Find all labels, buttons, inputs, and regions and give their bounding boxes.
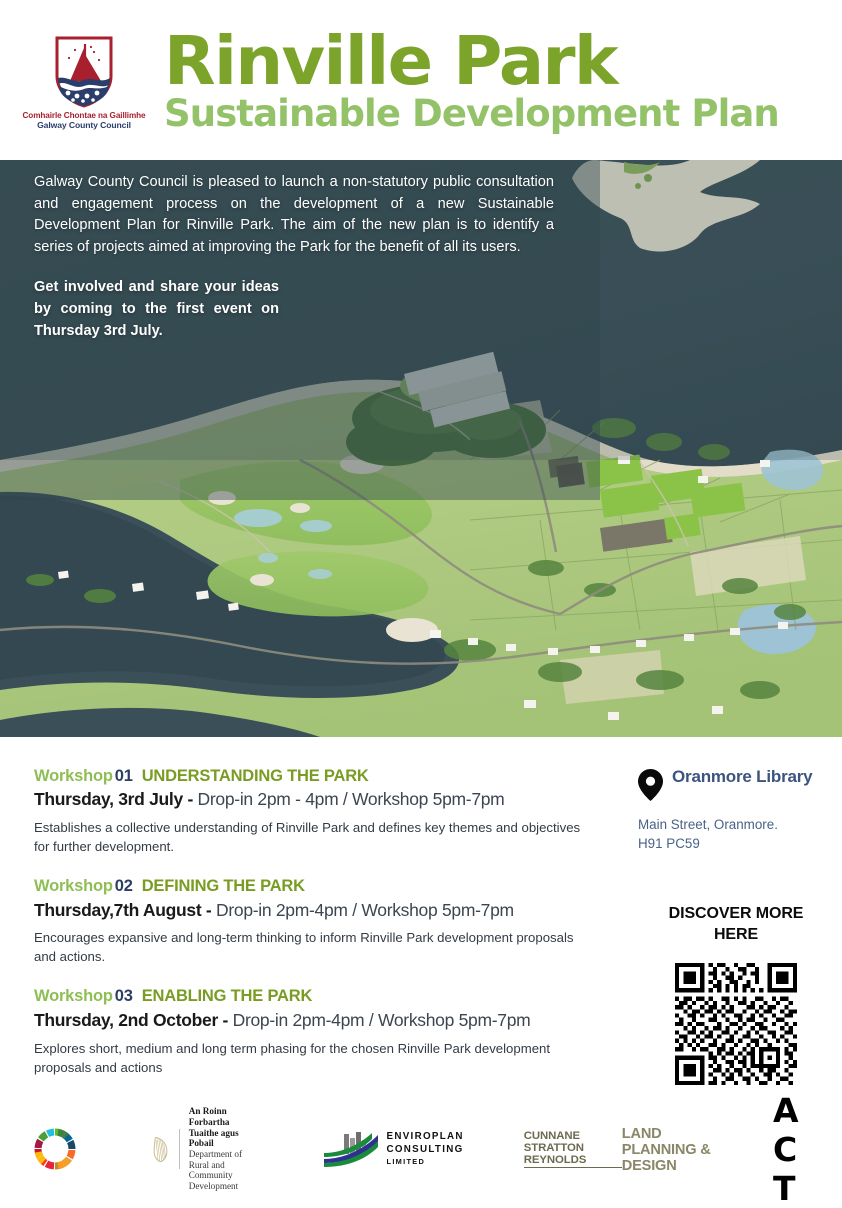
intro-paragraph: Galway County Council is pleased to laun… bbox=[34, 172, 554, 258]
venue-and-qr-column: Oranmore Library Main Street, Oranmore. … bbox=[620, 767, 842, 1098]
gov-irish-line1: An Roinn Forbartha bbox=[189, 1106, 250, 1127]
gov-irish-line2: Tuaithe agus Pobail bbox=[189, 1128, 250, 1149]
enviroplan-mark-icon bbox=[322, 1129, 380, 1169]
government-department-logo: An Roinn Forbartha Tuaithe agus Pobail D… bbox=[151, 1106, 250, 1191]
page-subtitle: Sustainable Development Plan bbox=[164, 95, 779, 133]
enviroplan-logo: ENVIROPLAN CONSULTING LIMITED bbox=[322, 1129, 464, 1169]
sdg-logo bbox=[34, 1128, 76, 1170]
workshop-label: Workshop bbox=[34, 987, 113, 1005]
workshop-heading: Workshop02DEFINING THE PARK bbox=[34, 877, 620, 896]
government-logo-text: An Roinn Forbartha Tuaithe agus Pobail D… bbox=[189, 1106, 250, 1191]
galway-county-council-logo: Comhairle Chontae na Gaillimhe Galway Co… bbox=[28, 34, 140, 131]
logo-divider bbox=[179, 1129, 180, 1169]
csr-line1: CUNNANE STRATTON REYNOLDS bbox=[524, 1130, 622, 1168]
venue-address-line1: Main Street, Oranmore. bbox=[638, 815, 842, 834]
poster-header: Comhairle Chontae na Gaillimhe Galway Co… bbox=[0, 0, 842, 160]
workshop-item: Workshop02DEFINING THE PARK Thursday,7th… bbox=[34, 877, 620, 966]
workshop-label: Workshop bbox=[34, 877, 113, 895]
venue-address-line2: H91 PC59 bbox=[638, 834, 842, 853]
workshops-list: Workshop01UNDERSTANDING THE PARK Thursda… bbox=[0, 767, 620, 1098]
qr-code-icon[interactable] bbox=[675, 963, 797, 1085]
enviroplan-line2: CONSULTING bbox=[387, 1144, 464, 1157]
workshop-number: 01 bbox=[115, 767, 133, 785]
workshop-date-line: Thursday, 3rd July - Drop-in 2pm - 4pm /… bbox=[34, 788, 620, 811]
csr-line2: LAND PLANNING & DESIGN bbox=[622, 1126, 723, 1174]
workshop-title: UNDERSTANDING THE PARK bbox=[142, 767, 369, 785]
workshop-times: Drop-in 2pm-4pm / Workshop 5pm-7pm bbox=[228, 1010, 530, 1030]
workshop-description: Explores short, medium and long term pha… bbox=[34, 1039, 594, 1077]
page-title: Rinville Park bbox=[164, 29, 779, 93]
workshop-title: ENABLING THE PARK bbox=[142, 987, 312, 1005]
workshop-times: Drop-in 2pm-4pm / Workshop 5pm-7pm bbox=[211, 900, 513, 920]
logo-english-name: Galway County Council bbox=[22, 120, 145, 130]
workshop-title: DEFINING THE PARK bbox=[142, 877, 305, 895]
partner-logos-footer: An Roinn Forbartha Tuaithe agus Pobail D… bbox=[0, 1107, 842, 1191]
aerial-image-section: Galway County Council is pleased to laun… bbox=[0, 160, 842, 737]
workshop-date: Thursday,7th August - bbox=[34, 900, 211, 920]
enviroplan-line3: LIMITED bbox=[387, 1157, 464, 1167]
workshop-item: Workshop01UNDERSTANDING THE PARK Thursda… bbox=[34, 767, 620, 856]
discover-more-heading: DISCOVER MORE HERE bbox=[638, 903, 842, 945]
venue-address: Main Street, Oranmore. H91 PC59 bbox=[638, 815, 842, 853]
workshop-heading: Workshop01UNDERSTANDING THE PARK bbox=[34, 767, 620, 786]
gov-english-line2: Community Development bbox=[189, 1170, 250, 1191]
workshop-number: 02 bbox=[115, 877, 133, 895]
workshop-date: Thursday, 2nd October - bbox=[34, 1010, 228, 1030]
cta-lead-text: Get involved and share your ideas by com… bbox=[34, 279, 279, 317]
workshop-heading: Workshop03ENABLING THE PARK bbox=[34, 987, 620, 1006]
logo-irish-name: Comhairle Chontae na Gaillimhe bbox=[22, 111, 145, 121]
gov-english-line1: Department of Rural and bbox=[189, 1149, 250, 1170]
workshop-description: Establishes a collective understanding o… bbox=[34, 818, 594, 856]
workshop-date-line: Thursday,7th August - Drop-in 2pm-4pm / … bbox=[34, 899, 620, 922]
enviroplan-text: ENVIROPLAN CONSULTING LIMITED bbox=[387, 1131, 464, 1166]
cta-date: Thursday 3rd July. bbox=[34, 323, 163, 339]
workshop-date: Thursday, 3rd July - bbox=[34, 789, 193, 809]
discover-line1: DISCOVER MORE bbox=[638, 903, 834, 924]
discover-line2: HERE bbox=[638, 924, 834, 945]
call-to-action-paragraph: Get involved and share your ideas by com… bbox=[34, 277, 279, 342]
poster-titles: Rinville Park Sustainable Development Pl… bbox=[164, 29, 779, 132]
act-logo: A C T bbox=[773, 1091, 842, 1208]
galway-county-council-crest-icon bbox=[53, 34, 115, 108]
workshop-times: Drop-in 2pm - 4pm / Workshop 5pm-7pm bbox=[193, 789, 504, 809]
workshop-date-line: Thursday, 2nd October - Drop-in 2pm-4pm … bbox=[34, 1009, 620, 1032]
workshop-number: 03 bbox=[115, 987, 133, 1005]
workshop-label: Workshop bbox=[34, 767, 113, 785]
workshop-item: Workshop03ENABLING THE PARK Thursday, 2n… bbox=[34, 987, 620, 1076]
sdg-wheel-icon bbox=[34, 1128, 76, 1170]
venue-block: Oranmore Library bbox=[638, 767, 842, 801]
enviroplan-line1: ENVIROPLAN bbox=[387, 1131, 464, 1144]
workshop-description: Encourages expansive and long-term think… bbox=[34, 928, 594, 966]
venue-name: Oranmore Library bbox=[672, 767, 812, 787]
hero-intro-copy: Galway County Council is pleased to laun… bbox=[34, 172, 554, 342]
qr-code-wrap[interactable] bbox=[638, 963, 842, 1085]
cunnane-stratton-reynolds-logo: CUNNANE STRATTON REYNOLDS LAND PLANNING … bbox=[524, 1124, 723, 1174]
irish-harp-emblem-icon bbox=[151, 1126, 170, 1172]
map-pin-icon bbox=[638, 769, 663, 801]
